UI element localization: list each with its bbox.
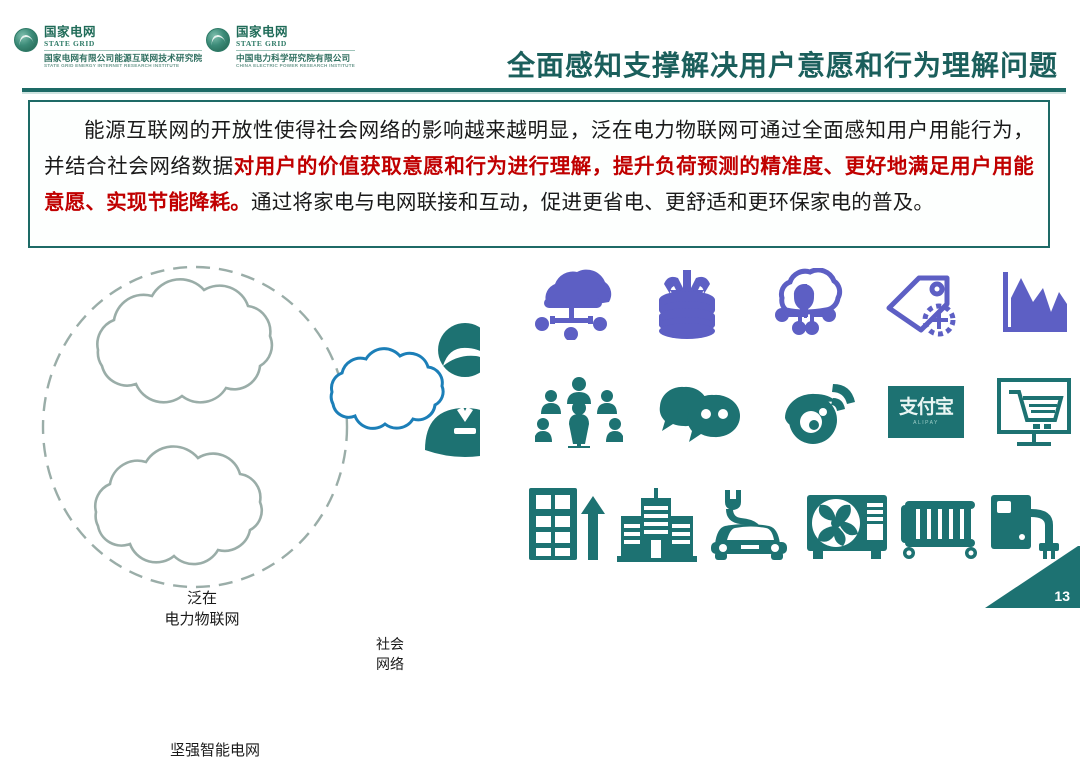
header-divider-shadow xyxy=(22,92,1066,94)
state-grid-globe-icon xyxy=(14,28,38,52)
logo-state-grid-energy-internet: 国家电网 STATE GRID 国家电网有限公司能源互联网技术研究院 STATE… xyxy=(14,26,202,69)
logo-divider xyxy=(236,50,355,51)
tag-plus-icon xyxy=(881,268,961,340)
cloud-social-network xyxy=(331,349,443,429)
slide-canvas: 国家电网 STATE GRID 国家电网有限公司能源互联网技术研究院 STATE… xyxy=(0,0,1080,608)
cloud-label-ubiquitous-power-iot: 泛在 电力物联网 xyxy=(122,588,282,630)
electric-vehicle-charging-icon xyxy=(705,486,799,562)
cloud-label-strong-smart-grid: 坚强智能电网 xyxy=(130,740,300,761)
alipay-logo-icon: 支付宝 ALIPAY xyxy=(888,386,964,438)
logo-org-cn: 国家电网有限公司能源互联网技术研究院 xyxy=(44,53,202,63)
shopping-cart-monitor-icon xyxy=(993,376,1075,448)
logo-org-en: CHINA ELECTRIC POWER RESEARCH INSTITUTE xyxy=(236,63,355,69)
cloud-diagram: 泛在 电力物联网 坚强智能电网 社会 网络 xyxy=(10,262,480,602)
page-number: 13 xyxy=(1054,588,1070,604)
weibo-eye-icon xyxy=(773,378,859,446)
logo-name-en: STATE GRID xyxy=(44,39,202,48)
ai-brain-cloud-icon xyxy=(762,268,848,340)
wechat-chat-bubbles-icon xyxy=(652,378,744,446)
area-chart-icon xyxy=(995,268,1075,340)
cloud-network-icon xyxy=(530,268,612,340)
elevator-building-arrow-icon xyxy=(523,486,609,562)
alipay-logo-text-en: ALIPAY xyxy=(913,420,939,426)
icon-row-social-platforms: 支付宝 ALIPAY xyxy=(535,376,1075,448)
page-title: 全面感知支撑解决用户意愿和行为理解问题 xyxy=(507,44,1058,84)
logo-org-cn: 中国电力科学研究院有限公司 xyxy=(236,53,355,63)
air-conditioner-icon xyxy=(803,487,893,561)
cloud-label-social-network: 社会 网络 xyxy=(350,635,430,675)
alipay-logo-text-cn: 支付宝 xyxy=(899,398,953,417)
logo-name-en: STATE GRID xyxy=(236,39,355,48)
summary-paragraph: 能源互联网的开放性使得社会网络的影响越来越明显，泛在电力物联网可通过全面感知用户… xyxy=(44,112,1034,220)
icon-row-data-platform xyxy=(530,268,1075,340)
logo-name-cn: 国家电网 xyxy=(236,26,355,39)
cloud-strong-smart-grid xyxy=(95,446,261,564)
social-group-people-icon xyxy=(535,376,623,448)
logo-org-en: STATE GRID ENERGY INTERNET RESEARCH INST… xyxy=(44,63,202,69)
cloud-diagram-svg xyxy=(10,262,480,602)
cloud-ubiquitous-power-iot xyxy=(97,279,272,402)
paragraph-segment-3: 通过将家电与电网联接和互动，促进更省电、更舒适和更环保家电的普及。 xyxy=(251,190,934,214)
slide-number-corner: 13 xyxy=(972,546,1080,608)
logo-divider xyxy=(44,50,202,51)
logo-china-electric-power-research: 国家电网 STATE GRID 中国电力科学研究院有限公司 CHINA ELEC… xyxy=(206,26,355,69)
data-ingest-database-icon xyxy=(646,268,728,340)
summary-textbox: 能源互联网的开放性使得社会网络的影响越来越明显，泛在电力物联网可通过全面感知用户… xyxy=(28,100,1050,248)
office-building-icon xyxy=(613,486,701,562)
radiator-heater-icon xyxy=(897,487,983,561)
slide-header: 国家电网 STATE GRID 国家电网有限公司能源互联网技术研究院 STATE… xyxy=(0,0,1080,92)
logo-name-cn: 国家电网 xyxy=(44,26,202,39)
state-grid-globe-icon xyxy=(206,28,230,52)
